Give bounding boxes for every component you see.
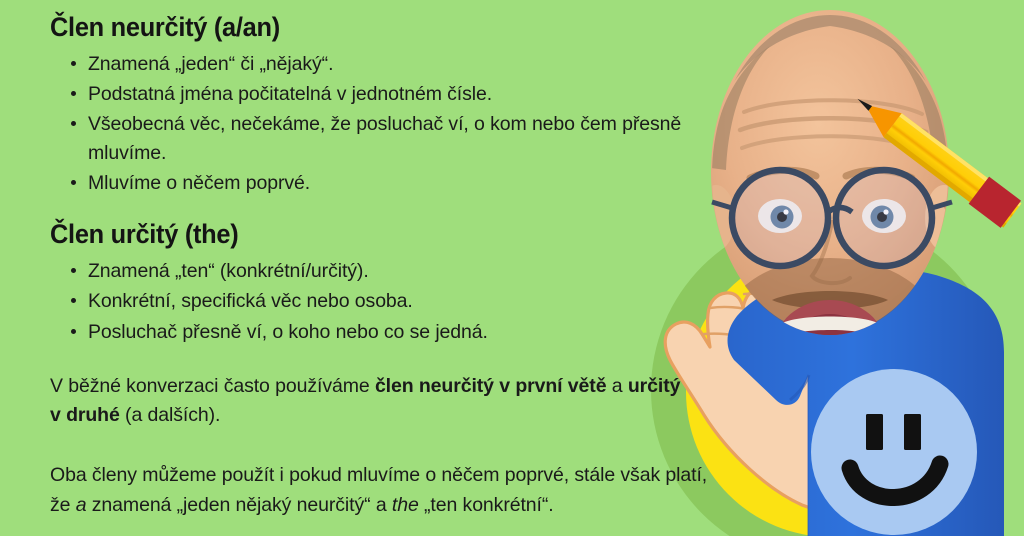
- lesson-text-column: Člen neurčitý (a/an) Znamená „jeden“ či …: [50, 12, 690, 520]
- paragraph-text-segment: „ten konkrétní“.: [419, 494, 554, 516]
- list-item: Podstatná jména počitatelná v jednotném …: [88, 80, 690, 108]
- paragraph-bold-segment: člen neurčitý v první větě: [375, 375, 607, 397]
- paragraph-text-segment: znamená „jeden nějaký neurčitý“ a: [86, 494, 391, 516]
- paragraph-text-segment: (a dalších).: [120, 404, 221, 426]
- smiley-logo: [811, 369, 977, 535]
- paragraph-italic-segment: the: [392, 494, 419, 516]
- heading-indefinite-article: Člen neurčitý (a/an): [50, 12, 652, 44]
- list-item: Znamená „jeden“ či „nějaký“.: [88, 50, 690, 78]
- paragraph-italic-segment: a: [76, 494, 87, 516]
- heading-definite-article: Člen určitý (the): [50, 219, 652, 251]
- smiley-eye-left: [866, 414, 883, 450]
- paragraph-text-segment: V běžné konverzaci často používáme: [50, 375, 375, 397]
- list-item: Znamená „ten“ (konkrétní/určitý).: [88, 257, 690, 285]
- list-item: Konkrétní, specifická věc nebo osoba.: [88, 287, 690, 315]
- paragraph-usage-rule: V běžné konverzaci často používáme člen …: [50, 372, 690, 431]
- paragraph-text-segment: a: [606, 375, 627, 397]
- smiley-eye-right: [904, 414, 921, 450]
- paragraph-both-articles: Oba členy můžeme použít i pokud mluvíme …: [50, 461, 710, 520]
- list-item: Posluchač přesně ví, o koho nebo co se j…: [88, 318, 690, 346]
- bullet-list-definite: Znamená „ten“ (konkrétní/určitý). Konkré…: [50, 257, 690, 346]
- slide-canvas: Člen neurčitý (a/an) Znamená „jeden“ či …: [0, 0, 1024, 536]
- bullet-list-indefinite: Znamená „jeden“ či „nějaký“. Podstatná j…: [50, 50, 690, 197]
- list-item: Mluvíme o něčem poprvé.: [88, 169, 690, 197]
- list-item: Všeobecná věc, nečekáme, že posluchač ví…: [88, 110, 690, 167]
